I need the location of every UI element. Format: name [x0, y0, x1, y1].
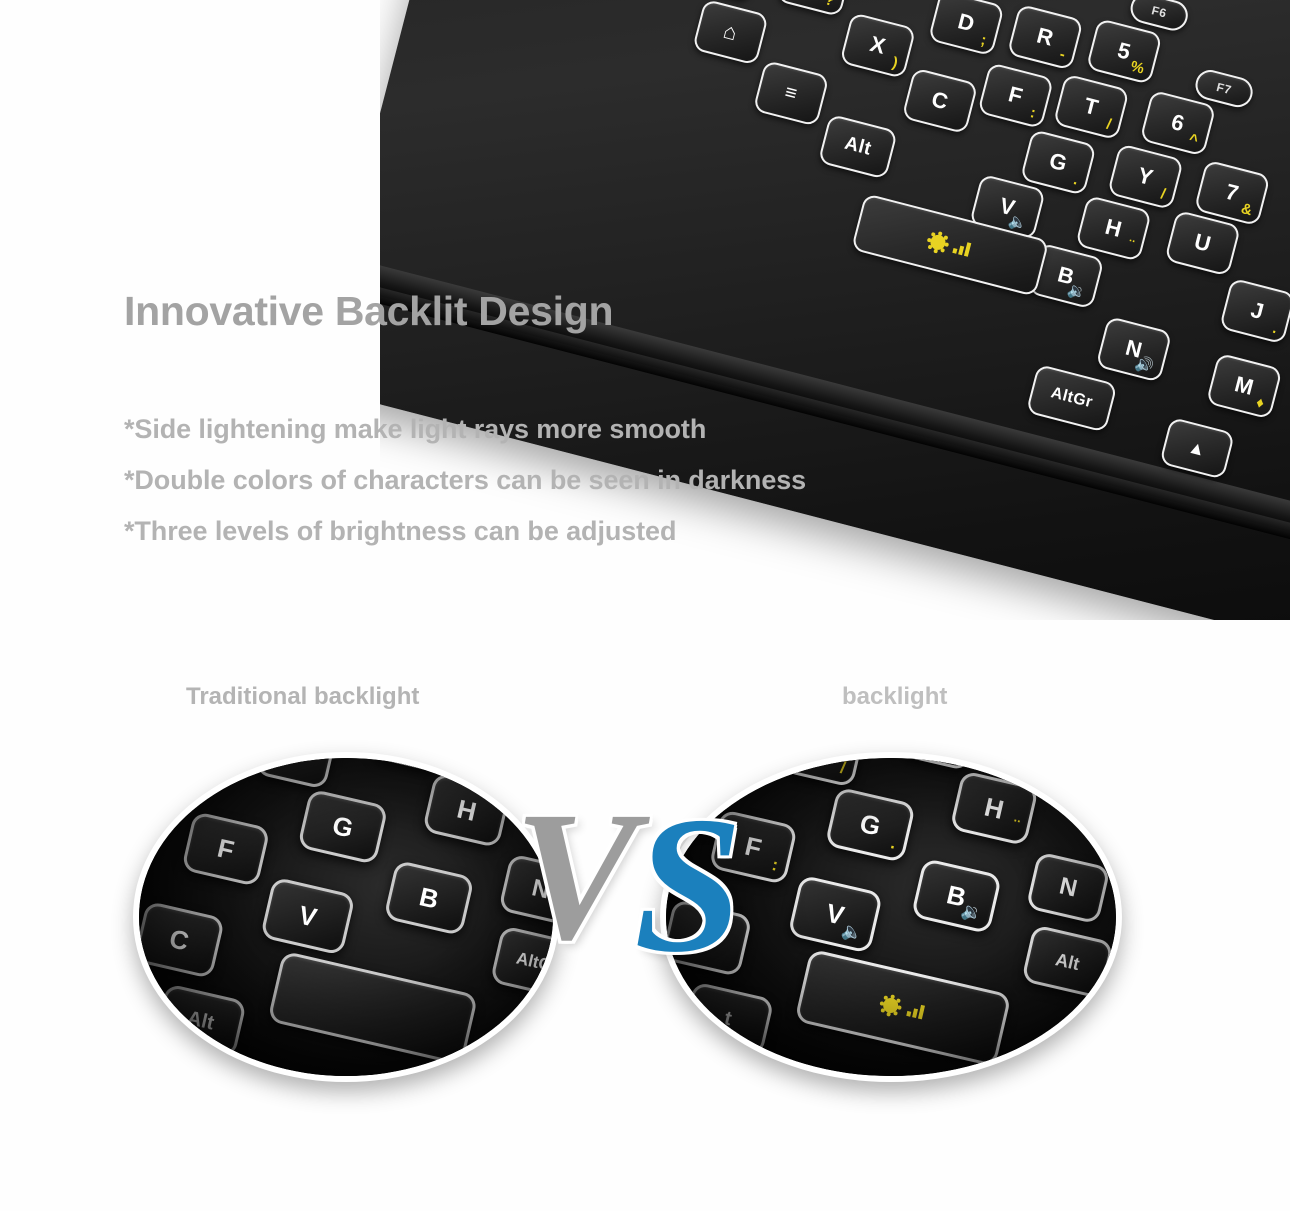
- keycap-f: F: [181, 811, 270, 887]
- keycap-alt-symbol: /: [954, 758, 962, 760]
- keycap-7: 7&: [1194, 160, 1271, 227]
- keycap-label: F6: [1150, 3, 1168, 20]
- keycap-label: 7: [1223, 179, 1242, 207]
- product-marketing-page: CtrlZ?⌂X)≡D;CAltF6F7R-5%F:T/6^G.Y/7&V🔈H¨…: [0, 0, 1290, 1211]
- keycap-r: R-: [1007, 4, 1084, 71]
- keycap-label: M: [1232, 371, 1257, 401]
- keycap-h: H¨: [949, 770, 1038, 846]
- keycap-d: D;: [928, 0, 1005, 56]
- keycap-h: H¨: [1075, 195, 1152, 262]
- keycap-label: J: [1248, 297, 1267, 325]
- keycap-n: N🔊: [1095, 316, 1172, 383]
- keycap-label: N: [1123, 335, 1145, 364]
- traditional-photo-inner: YTHGNFBVAltGrCAlt: [139, 758, 553, 1076]
- keycap-alt-symbol: 🔈: [840, 921, 864, 942]
- keycap-label: H: [454, 793, 479, 827]
- keycap-5: 5%: [1086, 18, 1163, 85]
- keycap-label: R: [1034, 23, 1056, 52]
- comparison-label-backlight: backlight: [842, 683, 947, 711]
- keycap-alt: Alt: [154, 983, 247, 1058]
- keycap-alt-symbol: ¨: [1011, 817, 1020, 835]
- keycap-spacebar: [794, 949, 1011, 1067]
- keycap-alt-symbol: .: [889, 834, 897, 852]
- keycap-alt-symbol: :: [1029, 105, 1038, 121]
- keycap-label: T: [1081, 93, 1101, 122]
- keycap-j: J.: [1219, 278, 1290, 345]
- keycap-alt-symbol: 🔈: [1007, 213, 1029, 232]
- feature-bullet: *Double colors of characters can be seen…: [124, 455, 1064, 506]
- keycap-alt-symbol: /: [1159, 186, 1167, 202]
- new-key-plane: Y/T/H¨G.NF:B🔉V🔈AltCt: [666, 758, 1116, 1076]
- keycap-: ≡: [753, 60, 830, 127]
- keycap-label: ≡: [782, 81, 800, 106]
- keycap-label: G: [1047, 148, 1071, 178]
- keycap-g: G.: [1020, 129, 1097, 196]
- keycap-label: T: [286, 758, 307, 769]
- keycap-c: C: [901, 67, 978, 134]
- keycap-label: C: [694, 921, 719, 955]
- keycap-t: T/: [1053, 73, 1130, 140]
- keycap-v: V: [260, 877, 356, 956]
- keycap-label: t: [722, 1007, 734, 1031]
- keycap-alt-symbol: ^: [1187, 132, 1200, 149]
- keycap-alt-symbol: ¨: [1126, 238, 1135, 254]
- keycap-b: B: [383, 860, 474, 936]
- page-title: Innovative Backlit Design: [124, 288, 613, 335]
- keycap-alt-symbol: /: [839, 759, 847, 777]
- keycap-label: C: [929, 86, 951, 115]
- keycap-alt-symbol: ?: [823, 0, 836, 9]
- keycap-c: C: [666, 899, 753, 977]
- keycap-u: U: [1164, 210, 1241, 277]
- keycap-g: G: [297, 789, 388, 865]
- keycap-label: F: [215, 832, 237, 866]
- keycap-altgr: AltGr: [490, 925, 553, 1000]
- keycap-label: G: [329, 809, 356, 844]
- keycap-alt-symbol: ): [891, 55, 900, 71]
- keycap-: ⌂: [692, 0, 769, 66]
- feature-bullet: *Side lightening make light rays more sm…: [124, 404, 1064, 455]
- keycap-c: C: [139, 901, 225, 979]
- keycap-alt-symbol: ♦: [1255, 395, 1267, 412]
- keycap-f6: F6: [1127, 0, 1191, 34]
- keycap-label: Alt: [842, 133, 873, 161]
- keycap-label: F7: [1215, 80, 1233, 97]
- keycap-alt-symbol: 🔉: [1066, 282, 1088, 301]
- keycap-alt-symbol: &: [1239, 201, 1254, 218]
- feature-bullet: *Three levels of brightness can be adjus…: [124, 506, 1064, 557]
- brightness-sun-icon: [881, 996, 899, 1014]
- keycap-t: T: [255, 758, 338, 790]
- traditional-backlight-photo: YTHGNFBVAltGrCAlt: [133, 752, 559, 1082]
- keycap-alt-symbol: :: [770, 856, 779, 874]
- keycap-label: Alt: [1053, 949, 1081, 975]
- keycap-label: F: [1006, 81, 1026, 110]
- keycap-label: Alt: [185, 1007, 216, 1035]
- keycap-6: 6^: [1139, 90, 1216, 157]
- comparison-label-traditional: Traditional backlight: [186, 683, 419, 711]
- keycap-n: N: [498, 853, 553, 926]
- keycap-label: F: [742, 830, 764, 864]
- keycap-label: G: [857, 807, 884, 842]
- keycap-f7: F7: [1192, 67, 1256, 111]
- keycap-m: M♦: [1206, 353, 1283, 420]
- keycap-t: T/: [782, 758, 865, 788]
- keycap-label: H: [982, 791, 1007, 825]
- keycap-label: C: [167, 923, 192, 957]
- keycap-label: N: [1057, 872, 1080, 903]
- keycap-alt-symbol: -: [1058, 47, 1067, 63]
- brightness-bars-icon: [906, 1002, 925, 1019]
- keycap-alt-symbol: %: [1129, 59, 1146, 77]
- keycap-alt-symbol: .: [1271, 321, 1279, 337]
- keycap-alt-symbol: 🔊: [1134, 355, 1156, 374]
- keycap-label: U: [1191, 229, 1213, 258]
- keycap-v: V🔈: [787, 875, 883, 954]
- keycap-alt-symbol: .: [1072, 172, 1080, 188]
- keycap-f: F:: [709, 809, 798, 885]
- keycap-label: B: [1055, 261, 1077, 290]
- keycap-y: Y/: [1107, 143, 1184, 210]
- new-photo-inner: Y/T/H¨G.NF:B🔉V🔈AltCt: [666, 758, 1116, 1076]
- keycap-x: X): [839, 12, 916, 79]
- keycap-alt-symbol: ;: [979, 32, 988, 48]
- feature-bullet-list: *Side lightening make light rays more sm…: [124, 404, 1064, 557]
- keycap-f: F:: [977, 62, 1054, 129]
- keycap-g: G.: [825, 787, 916, 863]
- keycap-label: X: [867, 31, 888, 60]
- keycap-alt: Alt: [818, 114, 898, 180]
- keycap-y: Y/: [897, 758, 980, 771]
- keycap-alt: Alt: [1021, 924, 1114, 999]
- keycap-b: B🔉: [1028, 243, 1105, 310]
- keycap-spacebar: [851, 193, 1049, 297]
- keycap-alt-symbol: /: [1105, 117, 1113, 133]
- keycap-v: V🔈: [969, 174, 1046, 241]
- keycap-t: t: [682, 981, 775, 1056]
- keycap-alt-symbol: 🔉: [959, 902, 983, 923]
- keycap-ctrl: Ctrl: [677, 0, 761, 2]
- keycap-label: AltGr: [514, 948, 553, 977]
- keycap-label: Y: [1135, 162, 1156, 191]
- keycap-label: V: [997, 193, 1018, 222]
- keycap-label: ▲: [1186, 436, 1209, 461]
- keycap-n: N: [1026, 851, 1111, 924]
- keycap-b: B🔉: [911, 858, 1002, 934]
- keycap-label: 6: [1169, 109, 1188, 137]
- keycap-: ▲: [1159, 417, 1235, 480]
- keycap-label: D: [955, 8, 977, 37]
- brightness-sun-icon: [929, 233, 947, 251]
- keycap-label: N: [529, 874, 552, 905]
- brightness-bars-icon: [952, 239, 971, 257]
- keycap-label: V: [296, 899, 320, 933]
- traditional-key-plane: YTHGNFBVAltGrCAlt: [139, 758, 553, 1076]
- keycap-spacebar: [267, 951, 478, 1066]
- keycap-z: Z?: [776, 0, 853, 17]
- keycap-label: ⌂: [721, 18, 741, 47]
- keycap-label: 5: [1115, 37, 1134, 65]
- keycap-label: H: [1102, 214, 1124, 243]
- new-backlight-photo: Y/T/H¨G.NF:B🔉V🔈AltCt: [660, 752, 1122, 1082]
- keycap-label: B: [416, 881, 441, 915]
- keycap-label: T: [813, 758, 834, 767]
- keycap-y: Y: [369, 758, 452, 773]
- keycap-h: H: [422, 772, 511, 848]
